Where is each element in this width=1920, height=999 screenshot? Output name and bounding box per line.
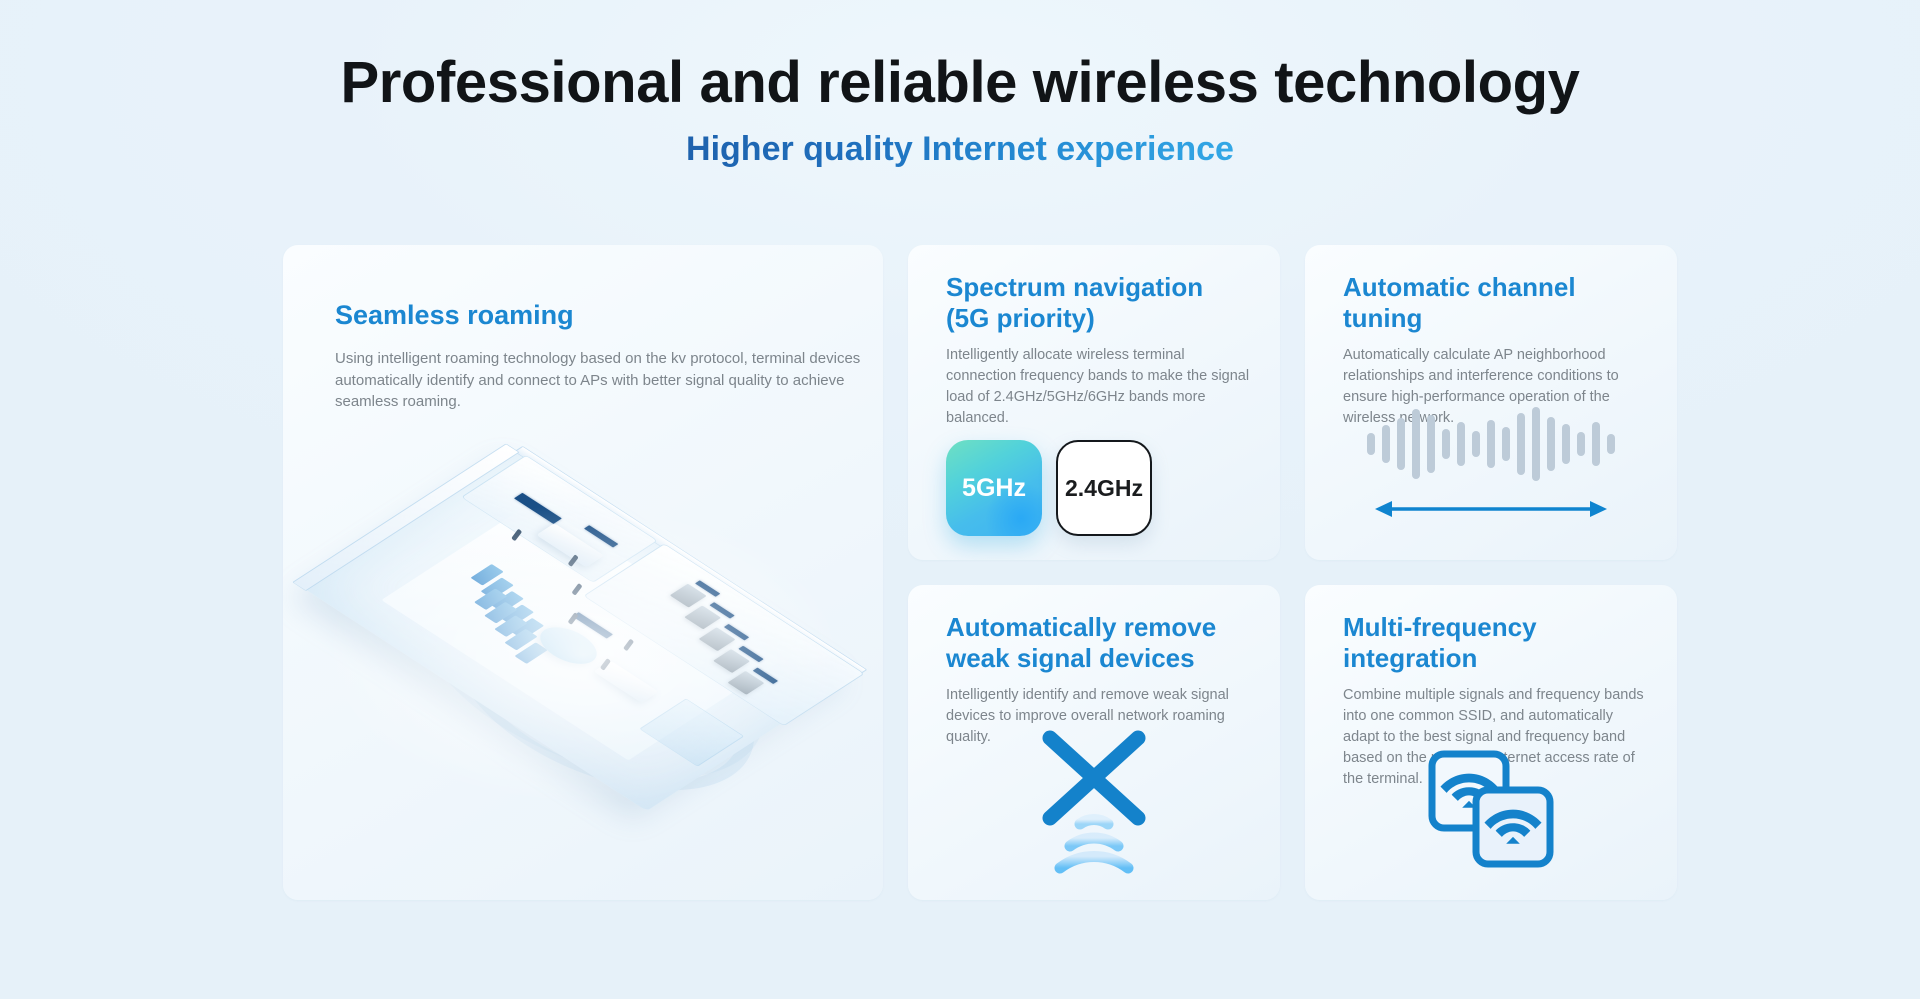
equalizer-bar <box>1592 422 1600 466</box>
airport-terminal-illustration <box>283 405 883 865</box>
equalizer-bars <box>1367 406 1615 482</box>
card-title-remove-weak-signal: Automatically remove weak signal devices <box>946 612 1250 673</box>
card-remove-weak-signal-devices[interactable]: Automatically remove weak signal devices… <box>908 585 1280 900</box>
equalizer-bar <box>1457 422 1465 466</box>
equalizer-bar <box>1397 418 1405 470</box>
equalizer-bar <box>1547 417 1555 471</box>
x-over-wifi-icon <box>1014 722 1174 874</box>
frequency-badge-group: 5GHz 2.4GHz <box>946 440 1152 536</box>
card-desc-seamless-roaming: Using intelligent roaming technology bas… <box>283 332 883 413</box>
equalizer-bar <box>1442 429 1450 459</box>
page-subtitle: Higher quality Internet experience <box>686 129 1234 170</box>
equalizer-bar <box>1367 433 1375 455</box>
badge-2.4ghz[interactable]: 2.4GHz <box>1056 440 1152 536</box>
equalizer-bar <box>1382 425 1390 463</box>
equalizer-bar <box>1472 431 1480 457</box>
badge-5ghz[interactable]: 5GHz <box>946 440 1042 536</box>
card-title-multi-frequency: Multi-frequency integration <box>1343 612 1647 673</box>
card-title-spectrum-navigation: Spectrum navigation (5G priority) <box>946 272 1250 333</box>
equalizer-bar <box>1577 432 1585 456</box>
equalizer-bar <box>1532 407 1540 481</box>
channel-tuning-graphic <box>1305 396 1677 526</box>
equalizer-bar <box>1427 415 1435 473</box>
double-arrow-icon <box>1375 498 1607 520</box>
multi-frequency-wifi-tiles-icon <box>1426 748 1556 870</box>
equalizer-bar <box>1607 434 1615 454</box>
card-desc-spectrum-navigation: Intelligently allocate wireless terminal… <box>946 333 1250 429</box>
card-multi-frequency-integration[interactable]: Multi-frequency integration Combine mult… <box>1305 585 1677 900</box>
card-title-automatic-channel-tuning: Automatic channel tuning <box>1343 272 1647 333</box>
card-spectrum-navigation[interactable]: Spectrum navigation (5G priority) Intell… <box>908 245 1280 560</box>
equalizer-bar <box>1517 413 1525 475</box>
equalizer-bar <box>1412 409 1420 479</box>
card-title-seamless-roaming: Seamless roaming <box>283 245 883 332</box>
page-header: Professional and reliable wireless techn… <box>0 0 1920 169</box>
card-seamless-roaming[interactable]: Seamless roaming Using intelligent roami… <box>283 245 883 900</box>
equalizer-bar <box>1562 424 1570 464</box>
card-automatic-channel-tuning[interactable]: Automatic channel tuning Automatically c… <box>1305 245 1677 560</box>
page-title: Professional and reliable wireless techn… <box>0 52 1920 115</box>
wireless-technology-feature-page: Professional and reliable wireless techn… <box>0 0 1920 999</box>
feature-card-grid: Seamless roaming Using intelligent roami… <box>283 245 1677 915</box>
equalizer-bar <box>1487 420 1495 468</box>
equalizer-bar <box>1502 427 1510 461</box>
